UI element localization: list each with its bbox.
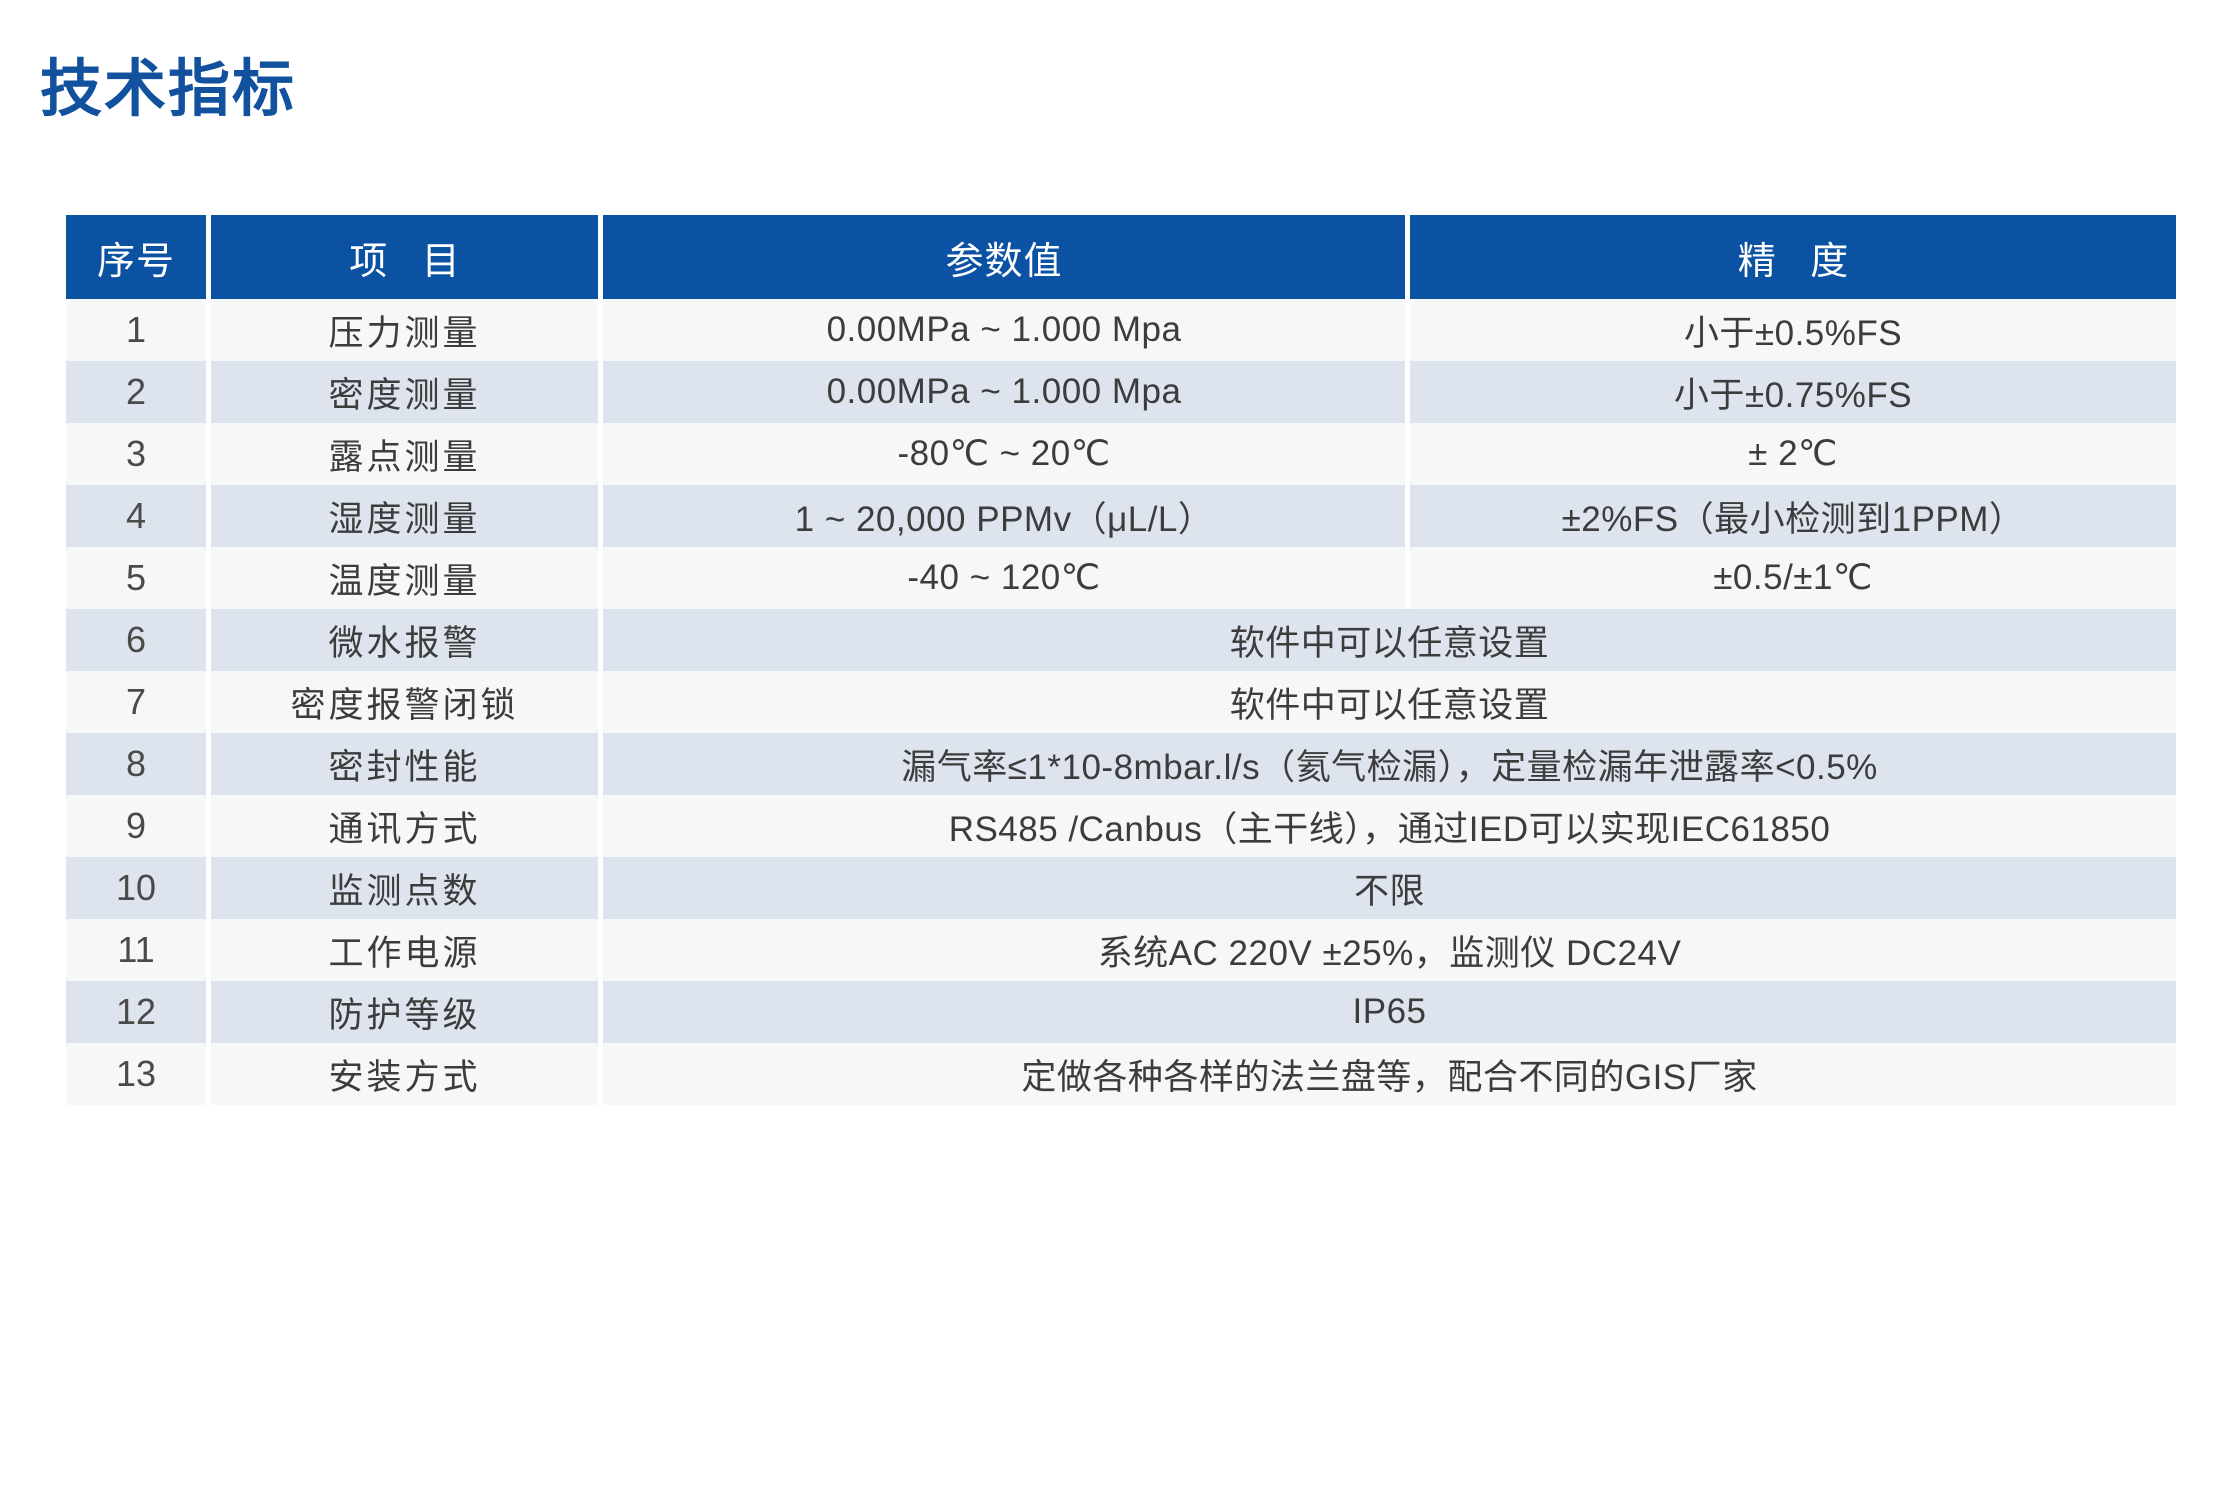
table-row: 5温度测量-40 ~ 120℃±0.5/±1℃ <box>66 547 2176 609</box>
table-row: 10监测点数不限 <box>66 857 2176 919</box>
cell-value: 0.00MPa ~ 1.000 Mpa <box>603 361 1410 423</box>
cell-item: 微水报警 <box>211 609 603 671</box>
cell-index: 12 <box>66 981 211 1043</box>
cell-index: 10 <box>66 857 211 919</box>
cell-value: RS485 /Canbus（主干线），通过IED可以实现IEC61850 <box>603 795 2176 857</box>
cell-value: 软件中可以任意设置 <box>603 609 2176 671</box>
cell-value: 软件中可以任意设置 <box>603 671 2176 733</box>
cell-item: 湿度测量 <box>211 485 603 547</box>
table-row: 7密度报警闭锁软件中可以任意设置 <box>66 671 2176 733</box>
cell-item: 温度测量 <box>211 547 603 609</box>
cell-accuracy: 小于±0.75%FS <box>1410 361 2176 423</box>
cell-index: 3 <box>66 423 211 485</box>
cell-value: 系统AC 220V ±25%，监测仪 DC24V <box>603 919 2176 981</box>
cell-index: 7 <box>66 671 211 733</box>
cell-item: 密度报警闭锁 <box>211 671 603 733</box>
cell-value: -80℃ ~ 20℃ <box>603 423 1410 485</box>
table-header-row: 序号 项 目 参数值 精 度 <box>66 215 2176 299</box>
cell-index: 8 <box>66 733 211 795</box>
cell-item: 压力测量 <box>211 299 603 361</box>
table-row: 9通讯方式RS485 /Canbus（主干线），通过IED可以实现IEC6185… <box>66 795 2176 857</box>
cell-value: 定做各种各样的法兰盘等，配合不同的GIS厂家 <box>603 1043 2176 1105</box>
cell-accuracy: ±2%FS（最小检测到1PPM） <box>1410 485 2176 547</box>
table-body: 1压力测量0.00MPa ~ 1.000 Mpa小于±0.5%FS2密度测量0.… <box>66 299 2176 1105</box>
technical-specifications-table: 序号 项 目 参数值 精 度 1压力测量0.00MPa ~ 1.000 Mpa小… <box>66 215 2176 1105</box>
cell-value: IP65 <box>603 981 2176 1043</box>
cell-value: 0.00MPa ~ 1.000 Mpa <box>603 299 1410 361</box>
page-title: 技术指标 <box>40 56 296 124</box>
cell-accuracy: 小于±0.5%FS <box>1410 299 2176 361</box>
cell-index: 9 <box>66 795 211 857</box>
cell-item: 监测点数 <box>211 857 603 919</box>
column-header-index: 序号 <box>66 215 211 299</box>
table-row: 6微水报警软件中可以任意设置 <box>66 609 2176 671</box>
cell-value: 1 ~ 20,000 PPMv（μL/L） <box>603 485 1410 547</box>
cell-item: 露点测量 <box>211 423 603 485</box>
cell-item: 密度测量 <box>211 361 603 423</box>
cell-index: 4 <box>66 485 211 547</box>
table-row: 11工作电源系统AC 220V ±25%，监测仪 DC24V <box>66 919 2176 981</box>
cell-accuracy: ± 2℃ <box>1410 423 2176 485</box>
table-header: 序号 项 目 参数值 精 度 <box>66 215 2176 299</box>
cell-item: 工作电源 <box>211 919 603 981</box>
cell-value: 漏气率≤1*10-8mbar.l/s（氦气检漏），定量检漏年泄露率<0.5% <box>603 733 2176 795</box>
column-header-accuracy: 精 度 <box>1410 215 2176 299</box>
table-row: 13安装方式定做各种各样的法兰盘等，配合不同的GIS厂家 <box>66 1043 2176 1105</box>
spec-sheet-page: 技术指标 序号 项 目 参数值 精 度 1压力测量0.00MPa ~ 1.000… <box>0 0 2237 1492</box>
column-header-value: 参数值 <box>603 215 1410 299</box>
cell-item: 防护等级 <box>211 981 603 1043</box>
cell-value: 不限 <box>603 857 2176 919</box>
cell-index: 11 <box>66 919 211 981</box>
cell-index: 5 <box>66 547 211 609</box>
cell-accuracy: ±0.5/±1℃ <box>1410 547 2176 609</box>
cell-index: 6 <box>66 609 211 671</box>
cell-index: 2 <box>66 361 211 423</box>
cell-index: 13 <box>66 1043 211 1105</box>
cell-index: 1 <box>66 299 211 361</box>
table-row: 4湿度测量1 ~ 20,000 PPMv（μL/L）±2%FS（最小检测到1PP… <box>66 485 2176 547</box>
cell-item: 密封性能 <box>211 733 603 795</box>
table-row: 3露点测量-80℃ ~ 20℃± 2℃ <box>66 423 2176 485</box>
table-row: 12防护等级IP65 <box>66 981 2176 1043</box>
cell-value: -40 ~ 120℃ <box>603 547 1410 609</box>
column-header-item: 项 目 <box>211 215 603 299</box>
table-row: 1压力测量0.00MPa ~ 1.000 Mpa小于±0.5%FS <box>66 299 2176 361</box>
cell-item: 安装方式 <box>211 1043 603 1105</box>
cell-item: 通讯方式 <box>211 795 603 857</box>
table-row: 8密封性能漏气率≤1*10-8mbar.l/s（氦气检漏），定量检漏年泄露率<0… <box>66 733 2176 795</box>
table-row: 2密度测量0.00MPa ~ 1.000 Mpa小于±0.75%FS <box>66 361 2176 423</box>
